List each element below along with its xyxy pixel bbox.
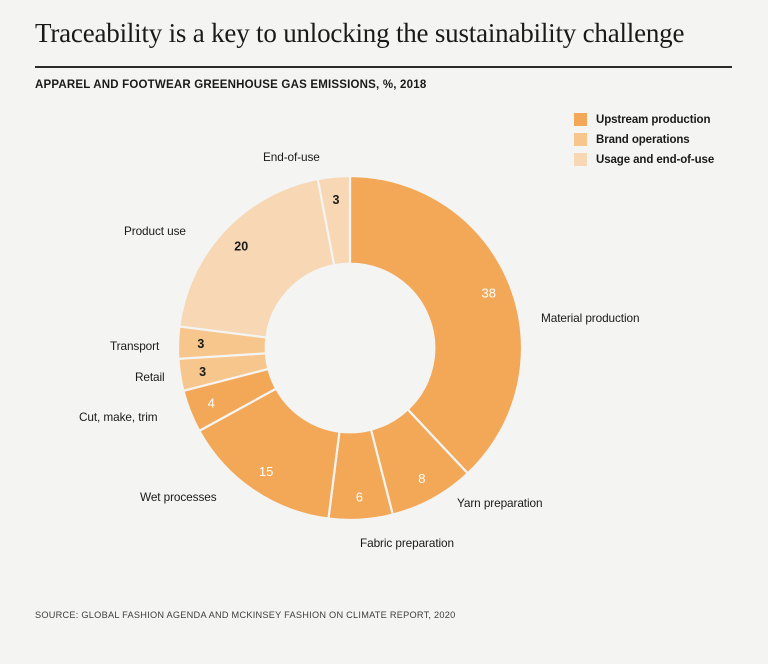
donut-slice-yarn-preparation[interactable] (371, 409, 468, 514)
legend-item-brand-operations[interactable]: Brand operations (574, 130, 764, 149)
legend-swatch-usage-and-end-of-use (574, 153, 587, 166)
category-label-material-production: Material production (541, 311, 639, 325)
slice-value-fabric-preparation: 6 (356, 489, 363, 504)
donut-slice-retail[interactable] (178, 353, 268, 390)
donut-chart: 388615433203 Material production Yarn pr… (0, 0, 768, 664)
category-label-end-of-use: End-of-use (263, 150, 320, 164)
category-label-wet-processes: Wet processes (140, 490, 217, 504)
source-note: SOURCE: GLOBAL FASHION AGENDA AND MCKINS… (35, 610, 455, 620)
legend-label-brand-operations: Brand operations (596, 134, 690, 146)
slice-value-product-use: 20 (234, 239, 248, 253)
slice-value-end-of-use: 3 (332, 193, 339, 207)
legend-label-upstream-production: Upstream production (596, 114, 710, 126)
category-label-product-use: Product use (124, 224, 186, 238)
donut-slice-wet-processes[interactable] (199, 389, 339, 519)
category-label-cut-make-trim: Cut, make, trim (79, 410, 157, 424)
donut-chart-svg: 388615433203 (0, 0, 768, 664)
donut-value-labels: 388615433203 (197, 193, 496, 504)
legend-item-upstream-production[interactable]: Upstream production (574, 110, 764, 129)
chart-subtitle: APPAREL AND FOOTWEAR GREENHOUSE GAS EMIS… (35, 79, 426, 91)
donut-slices (178, 176, 522, 520)
slice-value-wet-processes: 15 (259, 464, 273, 479)
page-title: Traceability is a key to unlocking the s… (35, 18, 735, 49)
chart-page: Traceability is a key to unlocking the s… (0, 0, 768, 664)
category-label-fabric-preparation: Fabric preparation (360, 536, 454, 550)
slice-value-transport: 3 (197, 337, 204, 351)
slice-value-retail: 3 (199, 365, 206, 379)
category-label-retail: Retail (135, 370, 165, 384)
title-divider (35, 66, 732, 68)
category-label-yarn-preparation: Yarn preparation (457, 496, 542, 510)
donut-slice-material-production[interactable] (350, 176, 522, 473)
legend-label-usage-and-end-of-use: Usage and end-of-use (596, 154, 714, 166)
slice-value-material-production: 38 (481, 286, 495, 301)
legend-swatch-brand-operations (574, 133, 587, 146)
category-label-transport: Transport (110, 339, 159, 353)
donut-slice-product-use[interactable] (179, 179, 334, 337)
donut-slice-transport[interactable] (178, 326, 266, 358)
slice-value-cut-make-trim: 4 (208, 395, 215, 410)
legend-swatch-upstream-production (574, 113, 587, 126)
slice-value-yarn-preparation: 8 (418, 471, 425, 486)
legend-item-usage-and-end-of-use[interactable]: Usage and end-of-use (574, 150, 764, 169)
donut-slice-fabric-preparation[interactable] (328, 430, 392, 520)
donut-slice-end-of-use[interactable] (318, 176, 350, 265)
donut-slice-cut-make-trim[interactable] (183, 369, 276, 431)
chart-legend: Upstream production Brand operations Usa… (574, 110, 764, 170)
